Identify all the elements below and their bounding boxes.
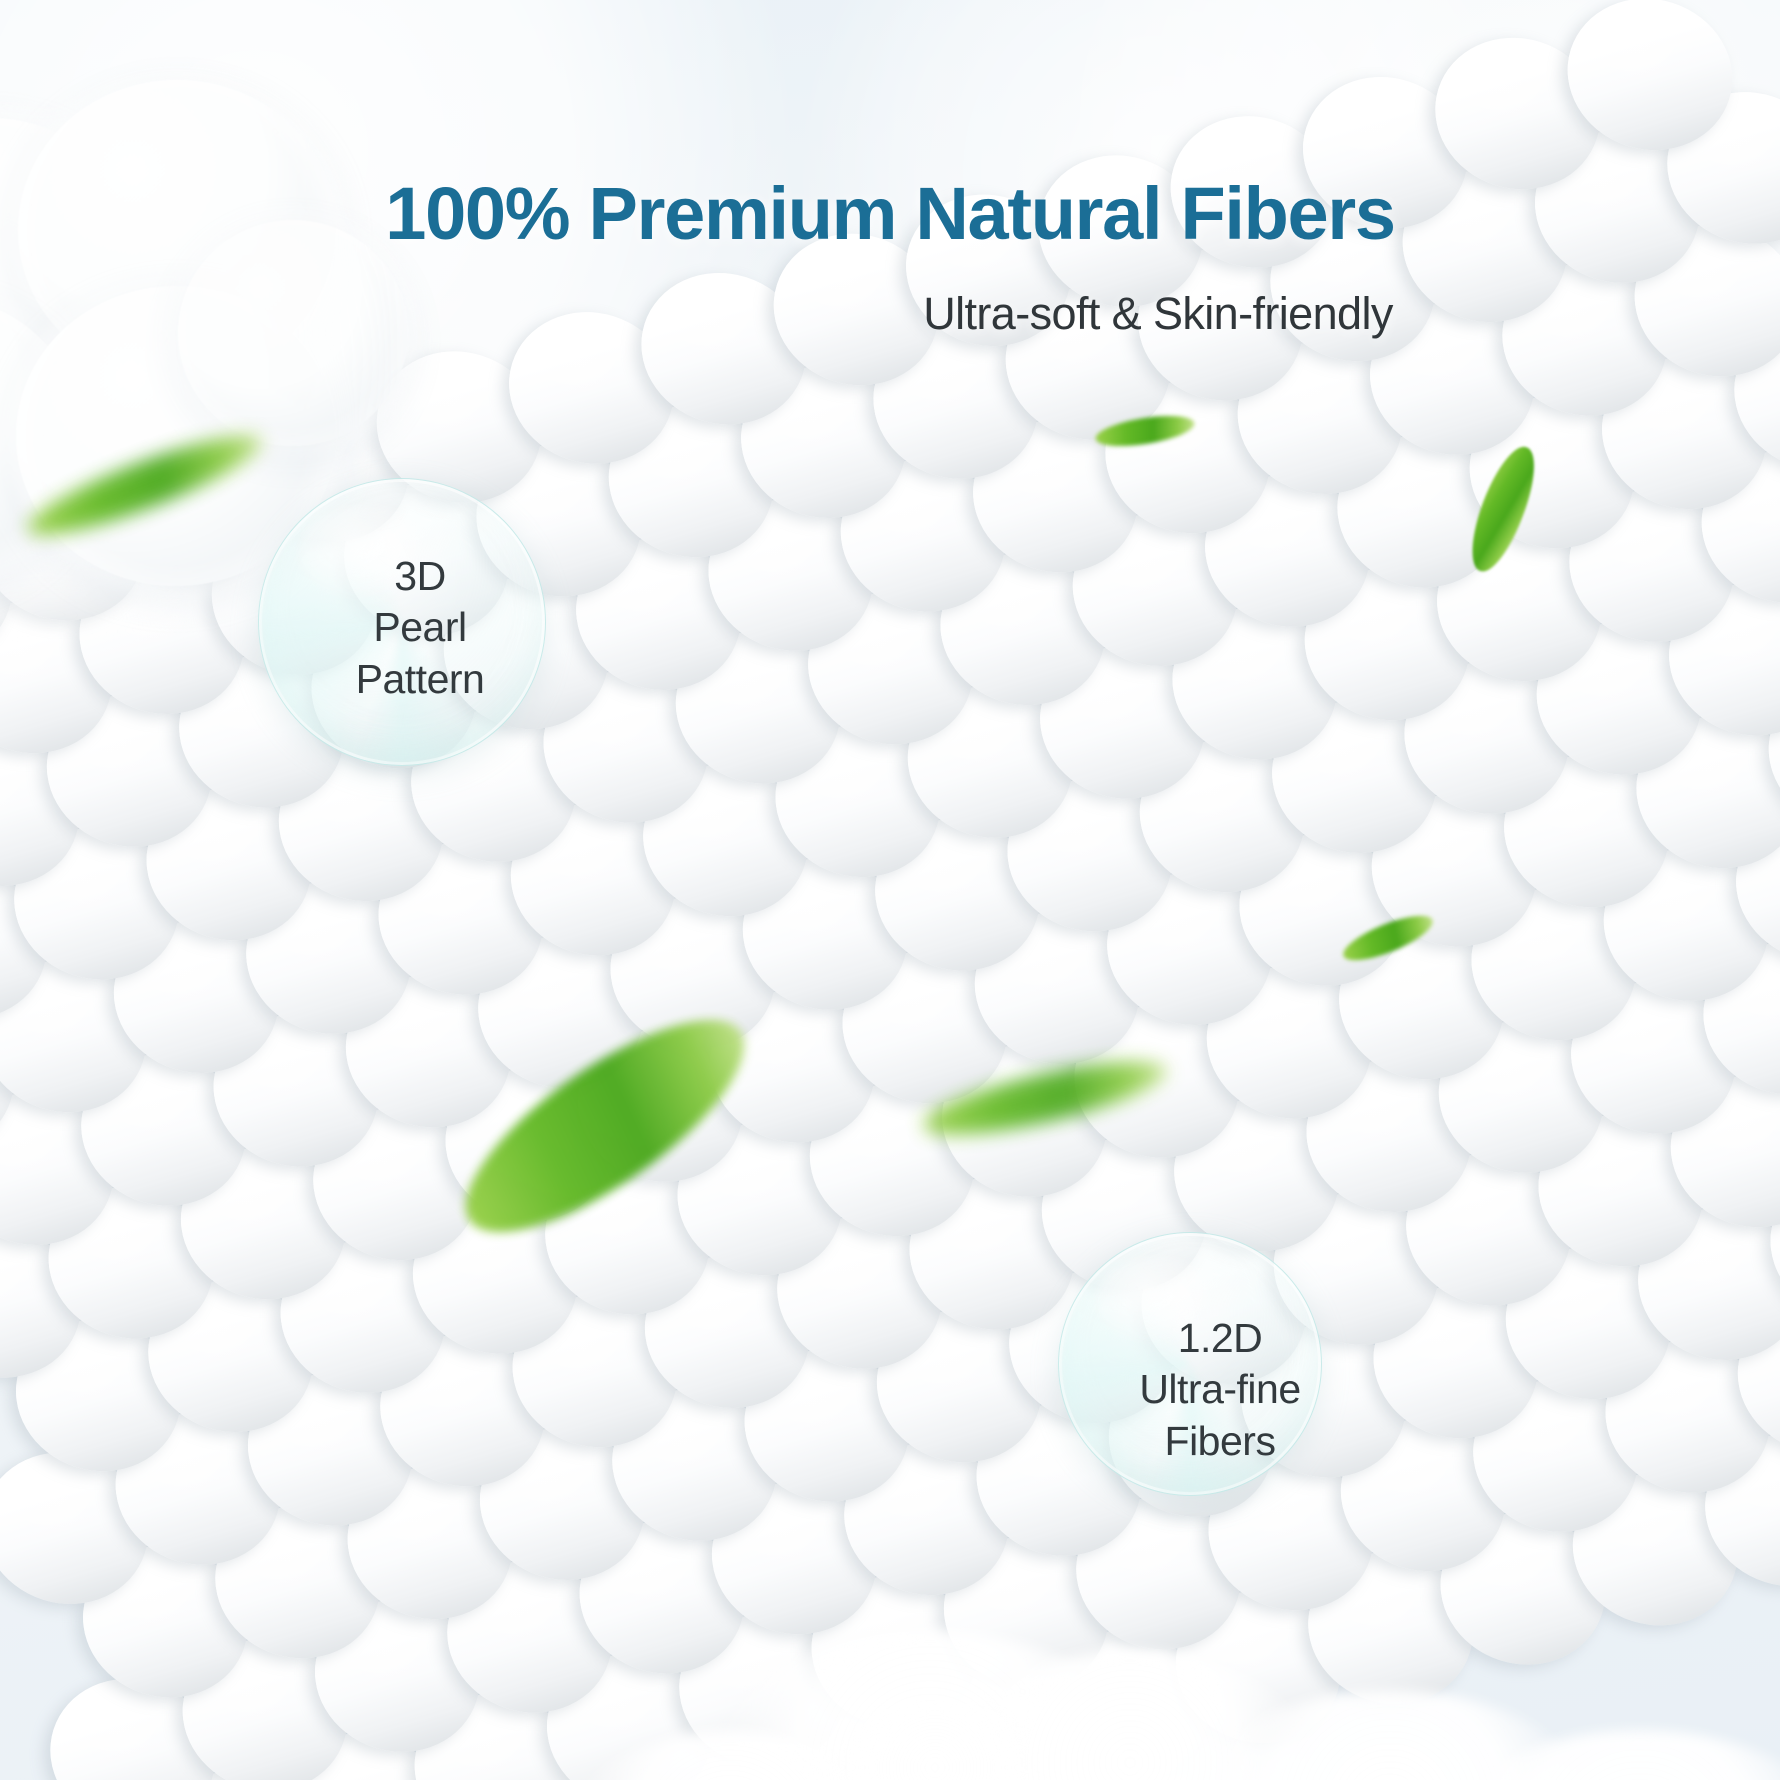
page-subtitle: Ultra-soft & Skin-friendly bbox=[0, 288, 1780, 340]
bubble-line: 1.2D bbox=[1178, 1315, 1263, 1361]
bubble-line: Pattern bbox=[356, 656, 485, 702]
feature-bubble-pearl-pattern: 3DPearlPattern bbox=[258, 478, 546, 766]
bubble-line: Fibers bbox=[1165, 1418, 1276, 1464]
product-feature-banner: 100% Premium Natural Fibers Ultra-soft &… bbox=[0, 0, 1780, 1780]
bubble-line: Ultra-fine bbox=[1139, 1366, 1300, 1412]
feature-bubble-ultra-fine-label: 1.2DUltra-fineFibers bbox=[1139, 1313, 1300, 1468]
bubble-line: Pearl bbox=[373, 604, 466, 650]
page-subtitle-text: Ultra-soft & Skin-friendly bbox=[923, 288, 1393, 340]
feature-bubble-ultra-fine: 1.2DUltra-fineFibers bbox=[1058, 1232, 1322, 1496]
bubble-line: 3D bbox=[394, 553, 445, 599]
feature-bubble-pearl-label: 3DPearlPattern bbox=[356, 551, 485, 706]
page-title: 100% Premium Natural Fibers bbox=[0, 176, 1780, 253]
